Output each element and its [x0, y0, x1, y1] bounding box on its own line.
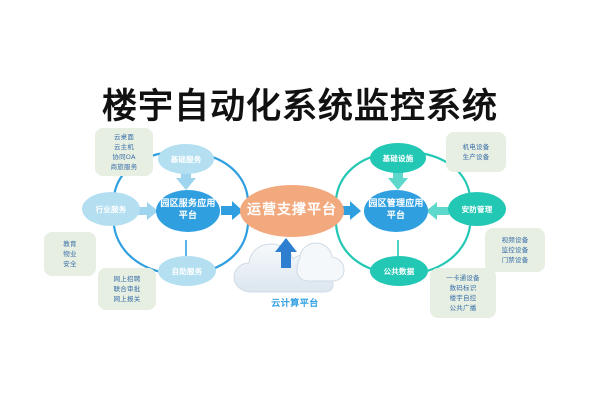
leafbox-line: 生产设备: [463, 152, 490, 162]
leafbox-line: 机电设备: [463, 142, 490, 152]
leafbox-basic-service-items: 云桌面 云主机 协同OA 商旅服务: [95, 128, 153, 176]
leafbox-self-service-items: 网上招聘 联合审批 网上报关: [98, 268, 156, 310]
platform-management-app[interactable]: 园区管理应用平台: [364, 190, 428, 232]
leafbox-line: 安全: [63, 259, 76, 269]
leafbox-line: 教育: [63, 239, 76, 249]
leafbox-infrastructure-items: 机电设备 生产设备: [446, 132, 506, 172]
cloud-platform-label: 云计算平台: [240, 296, 350, 309]
ring-node-infrastructure-label: 基础设施: [383, 153, 414, 164]
center-node-operation-platform[interactable]: 运营支撑平台: [240, 185, 344, 237]
leafbox-line: 网上招聘: [114, 274, 141, 284]
leafbox-line: 协同OA: [112, 152, 135, 162]
leafbox-line: 公共广播: [450, 303, 477, 313]
leafbox-security-management-items: 视频设备 监控设备 门禁设备: [485, 228, 545, 272]
ring-node-industry-service[interactable]: 行业服务: [82, 192, 140, 226]
leafbox-industry-service-items: 教育 物业 安全: [44, 232, 96, 276]
leafbox-line: 物业: [63, 249, 76, 259]
leafbox-line: 楼宇自控: [450, 293, 477, 303]
leafbox-line: 视频设备: [502, 235, 529, 245]
platform-service-app-label: 园区服务应用平台: [156, 199, 220, 222]
ring-node-industry-service-label: 行业服务: [96, 204, 127, 215]
ring-node-security-management-label: 安防管理: [462, 204, 493, 215]
center-node-label: 运营支撑平台: [247, 202, 337, 219]
ring-node-infrastructure[interactable]: 基础设施: [370, 143, 426, 173]
leafbox-public-data-items: 一卡通设备 数码标识 楼宇自控 公共广播: [430, 268, 496, 318]
leafbox-line: 监控设备: [502, 245, 529, 255]
ring-node-security-management[interactable]: 安防管理: [448, 192, 506, 226]
leafbox-line: 商旅服务: [111, 162, 138, 172]
platform-service-app[interactable]: 园区服务应用平台: [156, 190, 220, 232]
ring-node-self-service-label: 自助服务: [172, 266, 203, 277]
arrow-icon-left-security: [426, 202, 449, 220]
leafbox-line: 一卡通设备: [446, 273, 480, 283]
platform-management-app-label: 园区管理应用平台: [364, 199, 428, 222]
ring-node-self-service[interactable]: 自助服务: [158, 256, 216, 286]
leafbox-line: 网上报关: [114, 294, 141, 304]
ring-node-basic-service-label: 基础服务: [171, 154, 202, 165]
ring-node-public-data[interactable]: 公共数据: [370, 256, 428, 286]
ring-node-basic-service[interactable]: 基础服务: [158, 144, 214, 174]
diagram-canvas: 楼宇自动化系统监控系统: [0, 0, 600, 400]
leafbox-line: 云主机: [114, 142, 134, 152]
leafbox-line: 数码标识: [450, 283, 477, 293]
leafbox-line: 云桌面: [114, 132, 134, 142]
leafbox-line: 联合审批: [114, 284, 141, 294]
leafbox-line: 门禁设备: [502, 255, 529, 265]
ring-node-public-data-label: 公共数据: [384, 266, 415, 277]
